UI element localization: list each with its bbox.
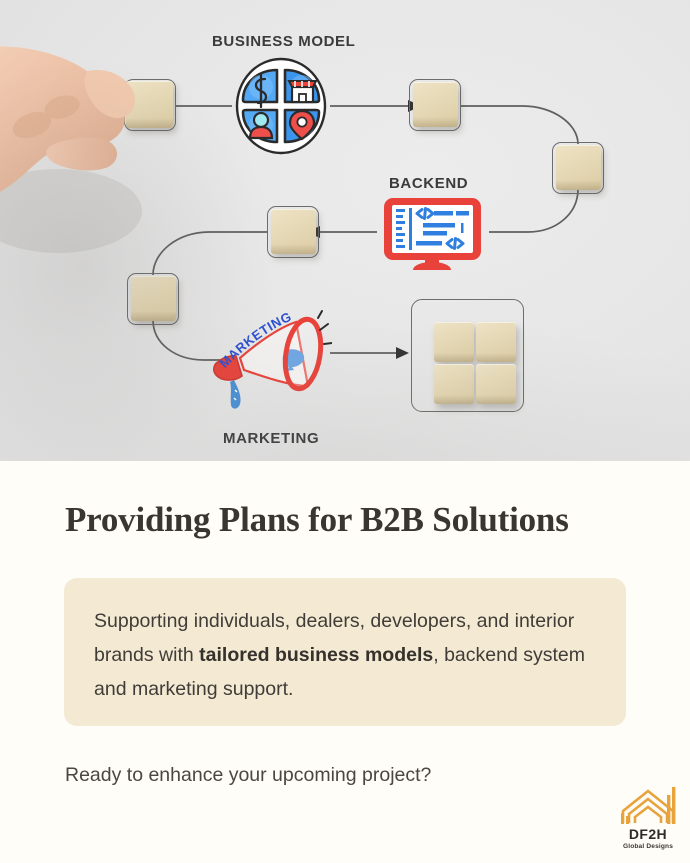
- callout-paragraph: Supporting individuals, dealers, develop…: [94, 604, 596, 706]
- logo-tagline: Global Designs: [623, 844, 673, 851]
- backend-label: BACKEND: [389, 175, 468, 192]
- callout-line-2-post: ,: [433, 644, 438, 666]
- poster-root: BUSINESS MODEL: [0, 0, 690, 863]
- tray-block-bottom-right: [476, 364, 516, 404]
- megaphone-icon: MARKETING: [204, 300, 332, 412]
- wooden-block-4: [271, 209, 316, 254]
- storefront-icon: [289, 81, 316, 102]
- hand-illustration: [0, 33, 178, 273]
- wooden-block-3: [556, 145, 601, 190]
- business-model-quadrant-icon: [232, 56, 330, 156]
- page-title: Providing Plans for B2B Solutions: [65, 500, 569, 540]
- wooden-block-2: [413, 82, 458, 127]
- content-panel: Providing Plans for B2B Solutions Suppor…: [0, 461, 690, 863]
- callout-line-1: Supporting individuals, dealers, develop…: [94, 610, 509, 632]
- hero-diagram-panel: BUSINESS MODEL: [0, 0, 690, 461]
- tray-block-bottom-left: [434, 364, 474, 404]
- tray-block-top-right: [476, 322, 516, 362]
- wooden-block-5: [131, 276, 176, 321]
- callout-box: Supporting individuals, dealers, develop…: [64, 578, 626, 726]
- callout-highlight: tailored business models: [199, 644, 433, 666]
- house-outline-logo-icon: [617, 783, 679, 825]
- cta-question: Ready to enhance your upcoming project?: [65, 764, 431, 787]
- marketing-label: MARKETING: [223, 430, 319, 447]
- brand-logo: DF2H Global Designs: [613, 783, 683, 857]
- code-monitor-icon: [382, 196, 483, 273]
- tray-block-top-left: [434, 322, 474, 362]
- business-model-label: BUSINESS MODEL: [212, 33, 355, 50]
- logo-name: DF2H: [629, 827, 667, 841]
